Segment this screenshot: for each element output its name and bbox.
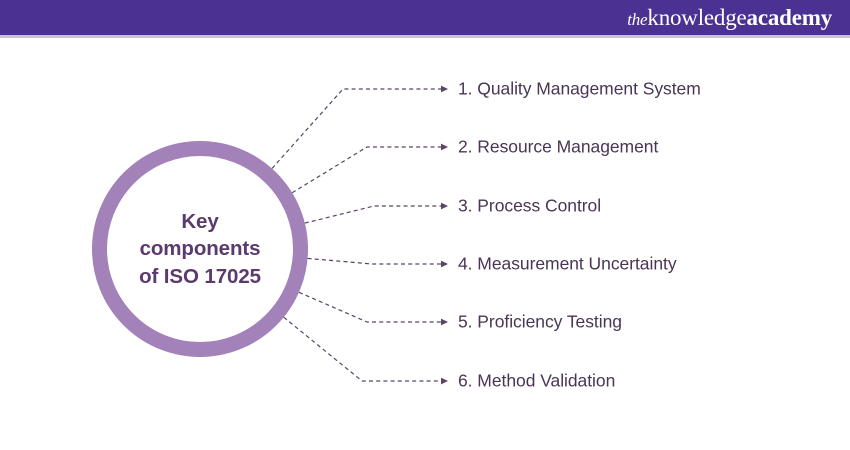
connector-line-1 [272,89,442,169]
component-item-5: 5. Proficiency Testing [458,313,622,331]
connector-arrowhead-4 [441,261,448,268]
connector-line-5 [299,292,442,322]
component-item-6: 6. Method Validation [458,372,615,390]
connector-arrowhead-3 [441,203,448,210]
header-bar: theknowledgeacademy [0,0,850,35]
iso-components-diagram: Key components of ISO 17025 1. Quality M… [0,38,850,450]
connector-line-4 [308,258,442,264]
component-list: 1. Quality Management System2. Resource … [458,38,850,450]
component-item-4: 4. Measurement Uncertainty [458,255,677,273]
component-item-3: 3. Process Control [458,197,601,215]
brand-logo-the: the [627,10,647,29]
brand-logo-knowledge: knowledge [647,5,746,30]
component-item-2: 2. Resource Management [458,138,658,156]
connector-line-2 [292,147,442,193]
center-circle-label: Key components of ISO 17025 [139,208,261,289]
connector-arrowhead-2 [441,144,448,151]
center-circle-node: Key components of ISO 17025 [92,141,308,357]
brand-logo: theknowledgeacademy [627,6,832,29]
connector-arrowhead-5 [441,319,448,326]
connector-arrowhead-6 [441,378,448,385]
connector-line-6 [284,317,442,381]
component-item-1: 1. Quality Management System [458,80,701,98]
connector-line-3 [305,206,442,223]
brand-logo-academy: academy [747,5,832,30]
connector-arrowhead-1 [441,86,448,93]
